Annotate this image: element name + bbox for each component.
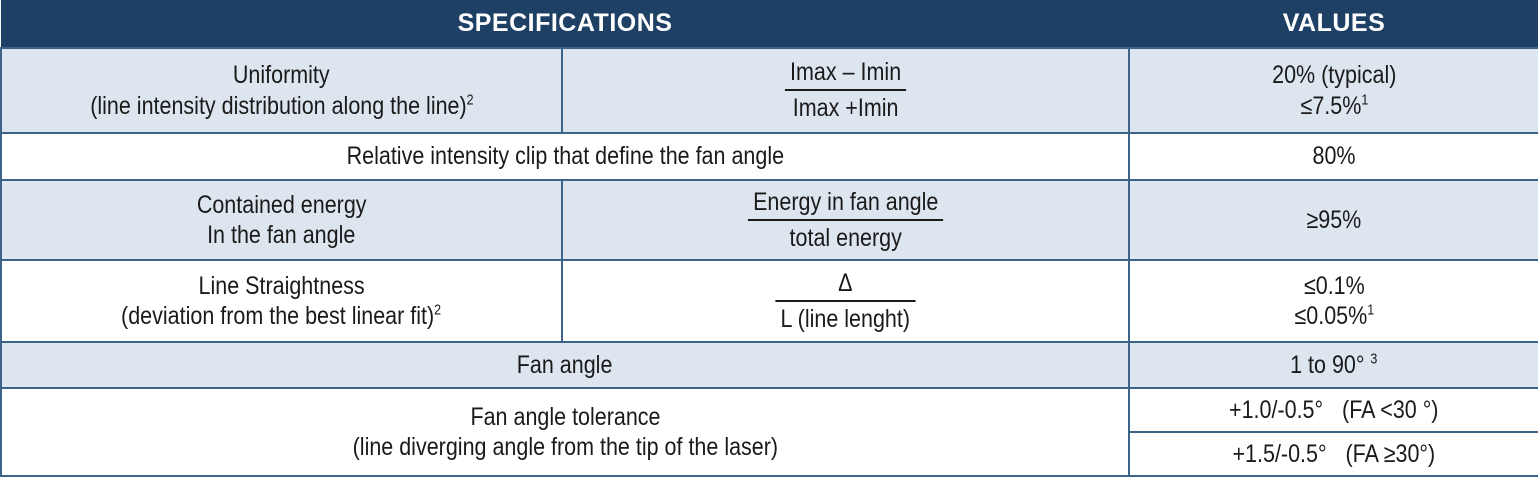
line-straightness-subtitle-superscript: 2: [435, 303, 442, 319]
header-label-specifications: SPECIFICATIONS: [458, 9, 673, 37]
line-straightness-fraction: Δ L (line lenght): [776, 268, 916, 334]
table-row-line-straightness: Line Straightness (deviation from the be…: [1, 260, 1538, 342]
contained-energy-fraction-denominator: total energy: [748, 221, 944, 253]
spec-cell-fan-angle-tolerance: Fan angle tolerance (line diverging angl…: [1, 388, 1129, 476]
table-row-relative-intensity-clip: Relative intensity clip that define the …: [1, 133, 1538, 180]
formula-cell-line-straightness: Δ L (line lenght): [562, 260, 1129, 342]
value-cell-uniformity: 20% (typical) ≤7.5%1: [1129, 48, 1538, 133]
value-cell-relative-intensity-clip: 80%: [1129, 133, 1538, 180]
uniformity-value-max: ≤7.5%: [1300, 92, 1361, 120]
line-straightness-subtitle: (deviation from the best linear fit): [121, 302, 434, 330]
fan-angle-tolerance-1-condition: (FA <30 °): [1342, 396, 1438, 424]
header-cell-specifications: SPECIFICATIONS: [1, 0, 1129, 48]
fan-angle-value: 1 to 90°: [1290, 351, 1364, 379]
contained-energy-value: ≥95%: [1307, 205, 1362, 236]
uniformity-fraction: Imax – Imin Imax +Imin: [785, 57, 906, 123]
fan-angle-value-superscript: 3: [1371, 351, 1378, 367]
fan-angle-tolerance-2-amount: +1.5/-0.5°: [1233, 440, 1327, 468]
spec-cell-uniformity: Uniformity (line intensity distribution …: [1, 48, 562, 133]
table-row-fan-angle: Fan angle 1 to 90° 3: [1, 342, 1538, 388]
value-cell-contained-energy: ≥95%: [1129, 180, 1538, 260]
uniformity-subtitle-superscript: 2: [466, 92, 473, 108]
table-header-row: SPECIFICATIONS VALUES: [1, 0, 1538, 48]
relative-intensity-clip-value: 80%: [1312, 141, 1355, 172]
contained-energy-title: Contained energy: [197, 190, 367, 221]
spec-cell-fan-angle: Fan angle: [1, 342, 1129, 388]
spec-cell-line-straightness: Line Straightness (deviation from the be…: [1, 260, 562, 342]
uniformity-fraction-denominator: Imax +Imin: [785, 91, 906, 123]
fan-angle-tolerance-subtable: +1.0/-0.5°(FA <30 °) +1.5/-0.5°(FA ≥30°): [1130, 389, 1538, 475]
line-straightness-fraction-numerator: Δ: [776, 268, 916, 302]
relative-intensity-clip-label: Relative intensity clip that define the …: [346, 141, 783, 172]
fan-angle-tolerance-1-amount: +1.0/-0.5°: [1229, 396, 1323, 424]
spec-cell-contained-energy: Contained energy In the fan angle: [1, 180, 562, 260]
contained-energy-fraction: Energy in fan angle total energy: [748, 187, 944, 253]
line-straightness-fraction-denominator: L (line lenght): [776, 302, 916, 334]
uniformity-value-typical: 20% (typical): [1272, 60, 1396, 91]
contained-energy-subtitle: In the fan angle: [207, 220, 355, 251]
fan-angle-tolerance-2-condition: (FA ≥30°): [1346, 440, 1436, 468]
formula-cell-uniformity: Imax – Imin Imax +Imin: [562, 48, 1129, 133]
header-label-values: VALUES: [1283, 9, 1386, 37]
uniformity-title: Uniformity: [233, 60, 330, 91]
contained-energy-fraction-numerator: Energy in fan angle: [748, 187, 944, 221]
uniformity-fraction-numerator: Imax – Imin: [785, 57, 906, 91]
table-row-contained-energy: Contained energy In the fan angle Energy…: [1, 180, 1538, 260]
value-cell-fan-angle: 1 to 90° 3: [1129, 342, 1538, 388]
fan-angle-tolerance-subrow-2: +1.5/-0.5°(FA ≥30°): [1130, 432, 1538, 475]
line-straightness-value-superscript: 1: [1367, 303, 1374, 319]
value-cell-fan-angle-tolerance: +1.0/-0.5°(FA <30 °) +1.5/-0.5°(FA ≥30°): [1129, 388, 1538, 476]
formula-cell-contained-energy: Energy in fan angle total energy: [562, 180, 1129, 260]
fan-angle-tolerance-title: Fan angle tolerance: [470, 402, 660, 433]
table-row-uniformity: Uniformity (line intensity distribution …: [1, 48, 1538, 133]
table-row-fan-angle-tolerance: Fan angle tolerance (line diverging angl…: [1, 388, 1538, 476]
fan-angle-label: Fan angle: [517, 350, 613, 381]
spec-cell-relative-intensity-clip: Relative intensity clip that define the …: [1, 133, 1129, 180]
line-straightness-value-primary: ≤0.1%: [1304, 271, 1365, 302]
fan-angle-tolerance-value-2: +1.5/-0.5°(FA ≥30°): [1130, 432, 1538, 475]
fan-angle-tolerance-subrow-1: +1.0/-0.5°(FA <30 °): [1130, 389, 1538, 432]
line-straightness-value-secondary: ≤0.05%: [1294, 302, 1367, 330]
header-cell-values: VALUES: [1129, 0, 1538, 48]
value-cell-line-straightness: ≤0.1% ≤0.05%1: [1129, 260, 1538, 342]
uniformity-subtitle: (line intensity distribution along the l…: [90, 92, 466, 120]
fan-angle-tolerance-subtitle: (line diverging angle from the tip of th…: [352, 432, 777, 463]
fan-angle-tolerance-value-1: +1.0/-0.5°(FA <30 °): [1130, 389, 1538, 432]
uniformity-value-superscript: 1: [1361, 92, 1368, 108]
specifications-table: SPECIFICATIONS VALUES Uniformity (line i…: [0, 0, 1538, 477]
line-straightness-title: Line Straightness: [198, 271, 364, 302]
